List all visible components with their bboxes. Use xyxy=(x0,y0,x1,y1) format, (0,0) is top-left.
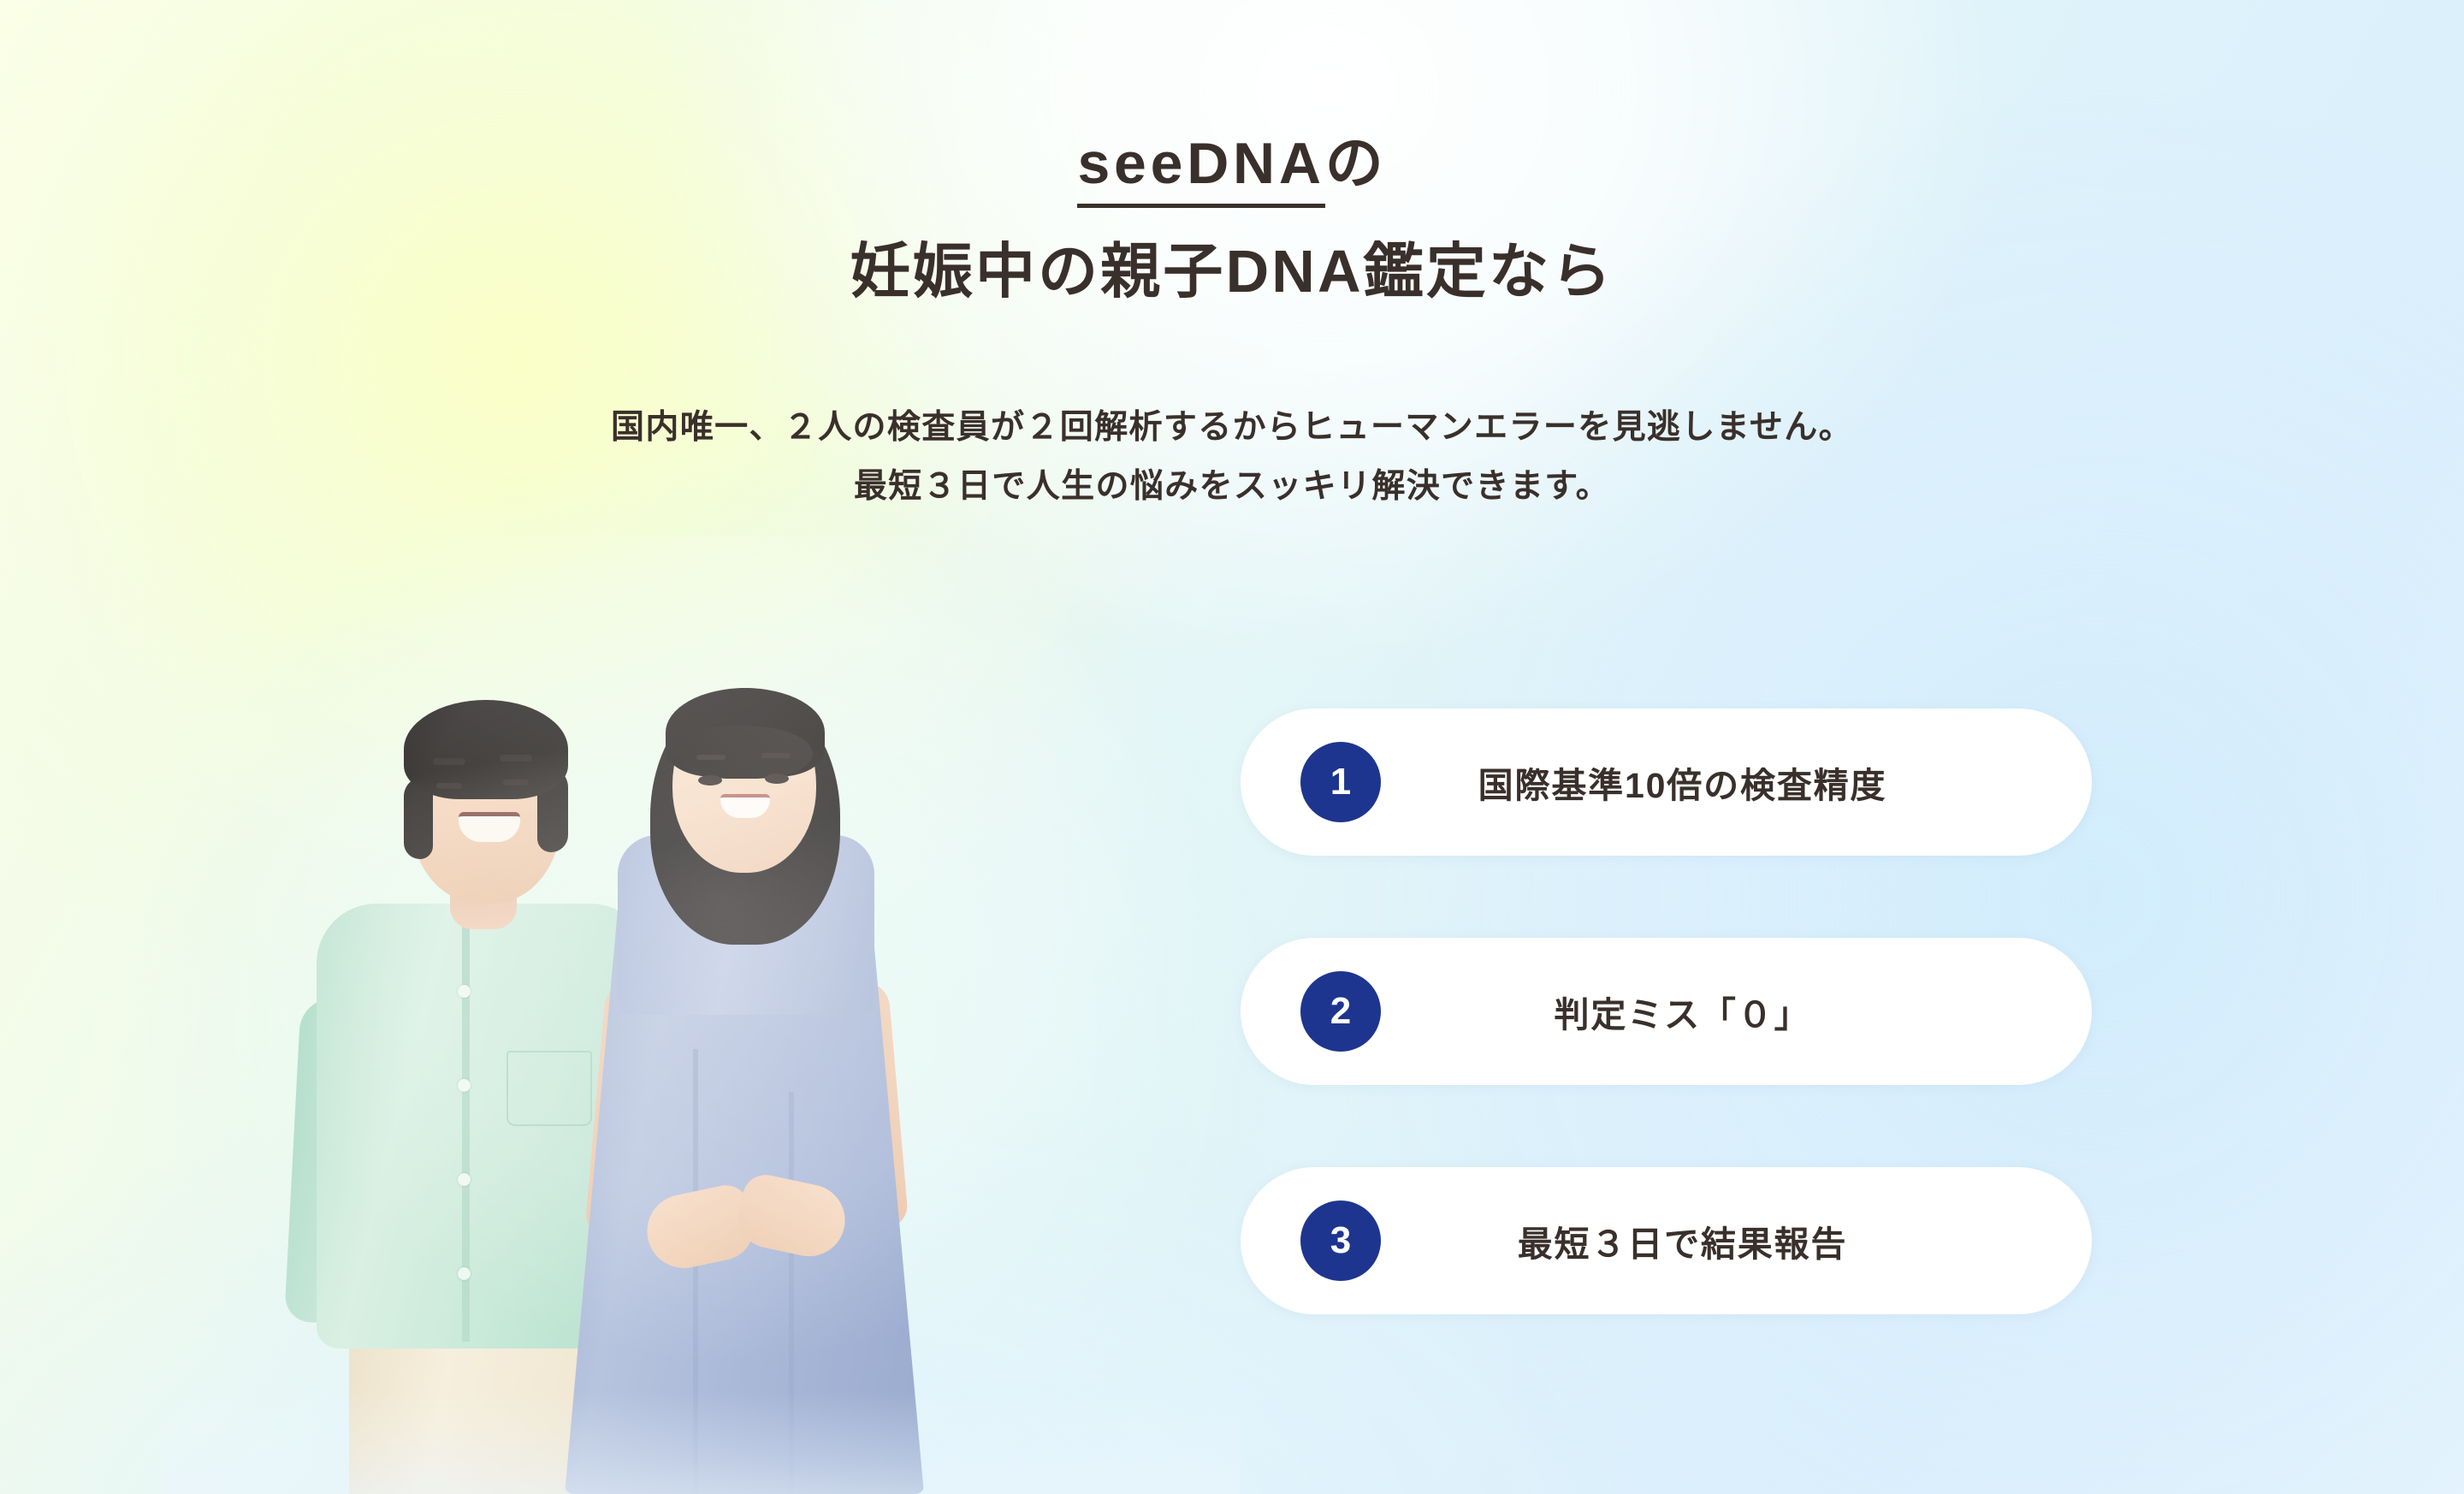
man-shirt-button xyxy=(458,985,471,998)
brand-name: seeDNA xyxy=(1077,131,1324,208)
man-eye-right xyxy=(503,780,529,786)
man-eyebrow-left xyxy=(433,758,465,765)
feature-card-2[interactable]: 2 判定ミス「０」 xyxy=(1241,938,2092,1085)
feature-card-1-number-badge: 1 xyxy=(1300,742,1381,822)
man-hair xyxy=(404,700,568,799)
feature-card-list: 1 国際基準10倍の検査精度 2 判定ミス「０」 3 最短３日で結果報告 xyxy=(1241,708,2092,1314)
headline-line-1-suffix: の xyxy=(1325,131,1387,196)
man-eye-left xyxy=(436,783,462,789)
woman-eye-right xyxy=(765,774,789,784)
man-shirt-button xyxy=(458,1173,471,1186)
headline-line-2: 妊娠中の親子DNA鑑定なら xyxy=(0,235,2464,307)
subcopy-line-2: 最短３日で人生の悩みをスッキリ解決できます。 xyxy=(0,459,2464,513)
man-mouth xyxy=(459,812,520,842)
man-eyebrow-right xyxy=(500,755,532,762)
headline-block: seeDNAの 妊娠中の親子DNA鑑定なら xyxy=(0,128,2464,307)
feature-card-3[interactable]: 3 最短３日で結果報告 xyxy=(1241,1167,2092,1314)
woman-eye-left xyxy=(698,775,722,786)
hero-section: seeDNAの 妊娠中の親子DNA鑑定なら 国内唯一、２人の検査員が２回解析する… xyxy=(0,0,2464,1494)
photo-bottom-fade xyxy=(163,1391,1241,1494)
headline-line-1: seeDNAの xyxy=(0,128,2464,199)
woman-eyebrow-left xyxy=(696,755,726,760)
feature-card-2-number-badge: 2 xyxy=(1300,971,1381,1052)
woman-figure xyxy=(565,587,950,1494)
man-shirt-button xyxy=(458,1267,471,1280)
woman-eyebrow-right xyxy=(761,753,791,758)
feature-card-3-number-badge: 3 xyxy=(1300,1201,1381,1281)
feature-card-1[interactable]: 1 国際基準10倍の検査精度 xyxy=(1241,708,2092,856)
subcopy-block: 国内唯一、２人の検査員が２回解析するからヒューマンエラーを見逃しません。 最短３… xyxy=(0,400,2464,513)
man-shirt-button xyxy=(458,1079,471,1092)
couple-photo xyxy=(282,587,1121,1494)
subcopy-line-1: 国内唯一、２人の検査員が２回解析するからヒューマンエラーを見逃しません。 xyxy=(0,400,2464,454)
woman-hair-bangs xyxy=(684,726,813,779)
